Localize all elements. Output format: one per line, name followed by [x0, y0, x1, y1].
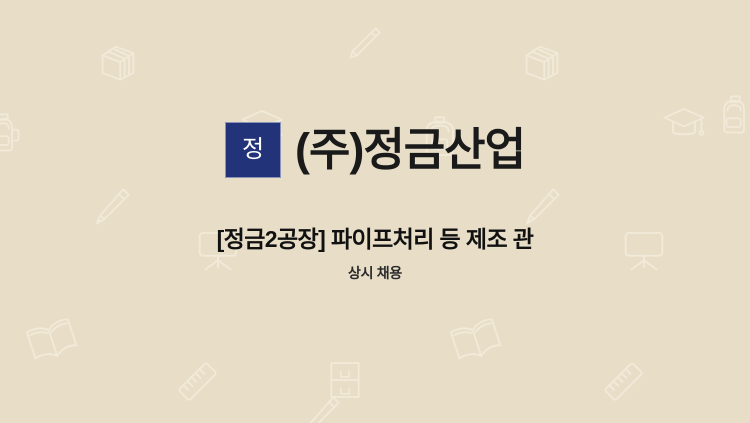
card-content: 정 (주)정금산업 [정금2공장] 파이프처리 등 제조 관 상시 채용 [0, 0, 750, 423]
job-block: [정금2공장] 파이프처리 등 제조 관 상시 채용 [217, 225, 534, 284]
company-logo-badge: 정 [225, 122, 281, 178]
company-name: (주)정금산업 [295, 127, 525, 172]
job-title: [정금2공장] 파이프처리 등 제조 관 [217, 225, 534, 254]
company-logo-initial: 정 [242, 138, 264, 162]
brand-row: 정 (주)정금산업 [225, 122, 525, 178]
job-period: 상시 채용 [217, 263, 534, 283]
job-posting-card: 정 (주)정금산업 [정금2공장] 파이프처리 등 제조 관 상시 채용 [0, 0, 750, 423]
